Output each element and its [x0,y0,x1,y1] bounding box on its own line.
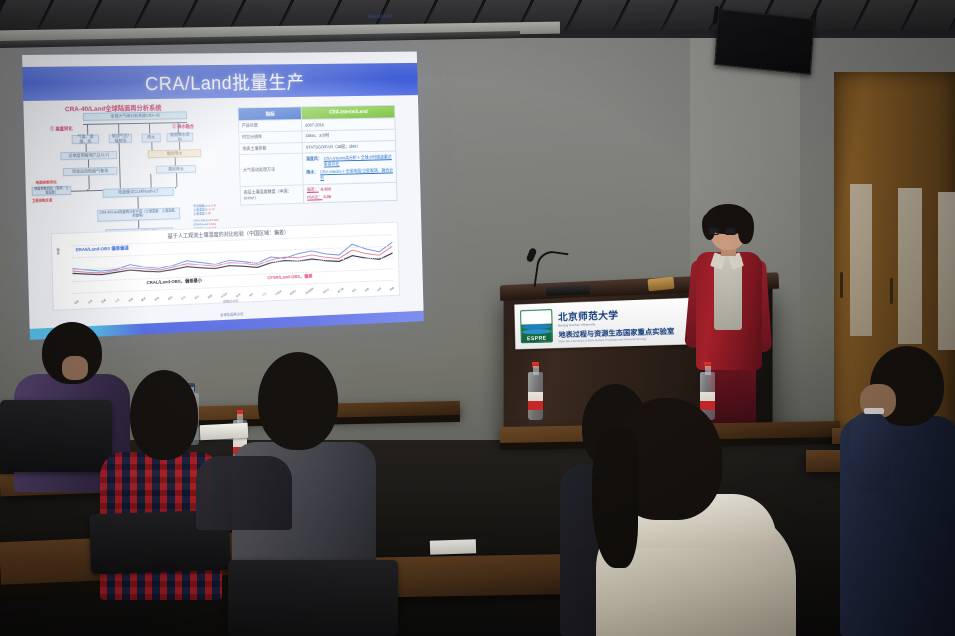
presenter-hair-side-right [738,212,754,244]
person-cream-hoodie [596,398,796,636]
chair-back-3 [228,560,398,636]
table-cell-value-4: 偏差： -0.003 RMSE： 0.05 [304,182,397,203]
plaid-shirt-head [130,370,198,460]
wall-speaker-icon [714,9,814,75]
table-row: 表层土壤湿度精度（中国：m³/m³） 偏差： -0.003 RMSE： 0.05 [240,182,397,205]
chart-x-tick-11: 阿克苏 [220,291,228,298]
flow-box-3: 驱动气压/辐射场 [109,134,132,143]
purple-sweater-ear [62,356,88,380]
multi-tag-1: 降水： [306,170,318,182]
table-cell-value-3: 温度风： CRA-Interim高分析＋全球小时微波雷达 垂直同化 降水： CR… [303,151,397,185]
table-cell-label-4: 表层土壤湿度精度（中国：m³/m³） [240,185,304,205]
chart-x-tick-8: 封丘 [181,295,187,301]
stat-val-2: 0.05 [205,211,211,215]
water-bottle-podium-left[interactable] [528,362,543,420]
flow-branch-left-label: ① 高度同化 [50,126,73,132]
flow-box-5: 观测降水资料 [166,133,193,142]
chart-x-tick-7: 禹城 [167,295,173,301]
chart-x-tick-23: 那曲 [389,286,395,292]
chart-x-tick-9: 商丘 [194,294,200,300]
projection-screen: CRA/Land批量生产 CRA-40/Land全球陆面再分析系统 全球大气再分… [22,52,424,340]
chart-x-tick-1: 长武 [87,298,93,304]
slide-surface: CRA/Land批量生产 CRA-40/Land全球陆面再分析系统 全球大气再分… [22,52,424,340]
multi-val-0: CRA-Interim高分析＋全球小时微波雷达 垂直同化 [324,154,393,168]
navy-blazer-cuff [864,408,884,414]
metric-name-0: 偏差： [307,187,319,192]
projector-brand-label: Mediaol [368,14,393,20]
metric-name-1: RMSE： [307,194,322,199]
person-navy-blazer [840,346,955,636]
chart-x-tick-18: 哀牢山 [322,287,330,294]
flow-box-4: 降水 [142,133,161,142]
table-header-0: 指标 [238,107,302,121]
chart-x-tick-3: 沁水 [114,297,120,303]
flow-box-top: 全球大气再分析系统CRA-40 [83,111,187,121]
flow-side-label-0: 地面参数同化 [35,180,56,186]
chart-x-tick-5: 鹰潭 [141,296,147,302]
chart-x-tick-2: 奈曼 [100,298,106,304]
flow-box-8: 陆面模式CLM/Noah-LT [102,187,173,198]
stat-key-2: 土壤湿度 [193,212,204,216]
chart-x-tick-4: 桃源 [127,297,133,303]
paper-sheet-4[interactable] [430,539,476,555]
navy-blazer-arm [850,412,890,492]
slide-title-bar: CRA/Land批量生产 [22,63,418,101]
chart-x-tick-13: 海伦 [248,292,254,298]
cream-hoodie-hair-strand [592,428,638,568]
person-dark-jacket [196,410,292,530]
table-row: 大气驱动处理方法 温度风： CRA-Interim高分析＋全球小时微波雷达 垂直… [239,151,396,186]
multi-val-1: CRA-Interim＋全球地面/卫星观测、融合分析 [320,168,393,182]
slide-title: CRA/Land批量生产 [145,67,305,95]
chart-x-tick-20: 海北 [351,287,357,293]
chart-x-tick-15: 千烟洲 [274,289,282,296]
logo-text: ESPRE [522,336,552,343]
dark-jacket-torso [196,456,292,530]
flow-box-0: 气温、湿度、风 [72,135,100,144]
flow-branch-right-label: ② 降水融合 [172,124,194,130]
chart-x-tick-10: 策勒 [207,293,213,299]
chart-x-tick-0: 安塞 [73,299,79,305]
chart-x-tick-17: 西双版纳 [304,286,314,295]
chart-x-tick-22: 拉萨 [377,286,383,292]
chart-x-tick-14: 三江 [261,291,267,297]
slide-footer-note: 全球陆面再分析 [220,311,244,317]
multi-tag-0: 温度风： [306,156,322,168]
chart-plot-area [72,234,394,293]
chart-x-tick-12: 盐池 [235,292,241,298]
lecture-room-scene: Mediaol CRA/Land批量生产 CRA-40/Land全球陆面再分析系… [0,0,955,636]
flow-box-2: 同化后的陆面气象场 [63,167,118,176]
chart-y-axis-label: 偏差 [56,248,60,255]
flow-side-label-2: 卫星参数反演 [32,197,52,203]
table-cell-label-3: 大气驱动处理方法 [239,153,303,186]
chart-x-tick-19: 若尔盖 [337,287,345,294]
chart-x-tick-6: 栾城 [154,296,160,302]
spec-table: 指标 CRA-Interim/Land 产品长度 2007-2016 时空分辨率… [238,105,398,206]
validation-line-chart: 基于人工观测土壤湿度的对比检验（中国区域：偏差） 偏差 ERA5/Land-OB… [51,222,400,311]
chart-x-tick-21: 当雄 [364,287,370,293]
metric-value-1: 0.05 [323,194,331,199]
metric-value-0: -0.003 [320,187,331,192]
university-logo-icon: ESPRE [520,309,553,343]
flow-box-1: 近地层预报场(T,Q,U,V) [60,151,117,160]
chair-back-1 [0,400,112,472]
chart-x-axis-label: 观测站点/时间 [223,299,238,304]
person-far-right-back [660,346,740,426]
flowchart-stats: 雪深偏差(cm) 0.31 土壤温度(K) 0.72 土壤湿度 0.05 CRA… [193,203,219,230]
flow-side-box: 地面参数同化（雪深、土壤湿度） [32,186,72,196]
glasses-icon [708,227,738,235]
chart-x-tick-16: 鼎湖山 [289,289,297,296]
